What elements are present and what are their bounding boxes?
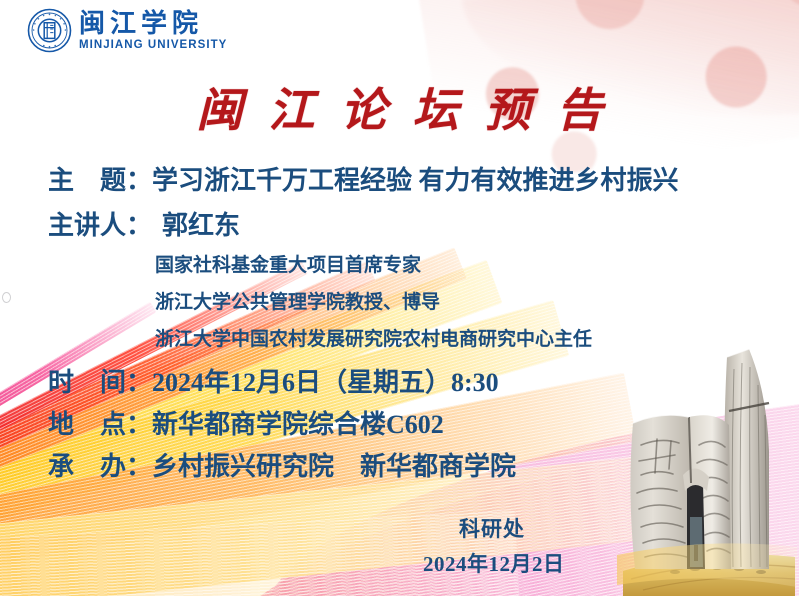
speaker-credential-2: 浙江大学公共管理学院教授、博导 (155, 287, 440, 314)
host-value: 乡村振兴研究院 新华都商学院 (152, 446, 516, 483)
place-label: 地 点： (48, 404, 152, 441)
signature-date: 2024年12月2日 (423, 548, 565, 578)
poster-canvas: 闽江学院 MINJIANG UNIVERSITY 闽江论坛预告 主 题： 学习浙… (0, 0, 799, 596)
speaker-credential-1: 国家社科基金重大项目首席专家 (155, 250, 421, 277)
row-topic: 主 题： 学习浙江千万工程经验 有力有效推进乡村振兴 (48, 160, 679, 197)
row-host: 承 办： 乡村振兴研究院 新华都商学院 (48, 446, 516, 483)
row-place: 地 点： 新华都商学院综合楼C602 (48, 404, 444, 441)
signature-department: 科研处 (459, 513, 525, 543)
speaker-value: 郭红东 (162, 205, 240, 242)
row-time: 时 间： 2024年12月6日（星期五）8:30 (48, 362, 499, 399)
time-value: 2024年12月6日（星期五）8:30 (152, 362, 499, 399)
speaker-credential-3: 浙江大学中国农村发展研究院农村电商研究中心主任 (155, 324, 592, 351)
time-label: 时 间： (48, 362, 152, 399)
row-speaker: 主讲人： 郭红东 (48, 205, 240, 242)
topic-label: 主 题： (48, 160, 152, 197)
topic-value: 学习浙江千万工程经验 有力有效推进乡村振兴 (152, 160, 679, 197)
host-label: 承 办： (48, 446, 152, 483)
place-value: 新华都商学院综合楼C602 (152, 404, 444, 441)
speaker-label: 主讲人： (48, 205, 152, 242)
stone-monument-sculpture-icon (617, 341, 797, 596)
